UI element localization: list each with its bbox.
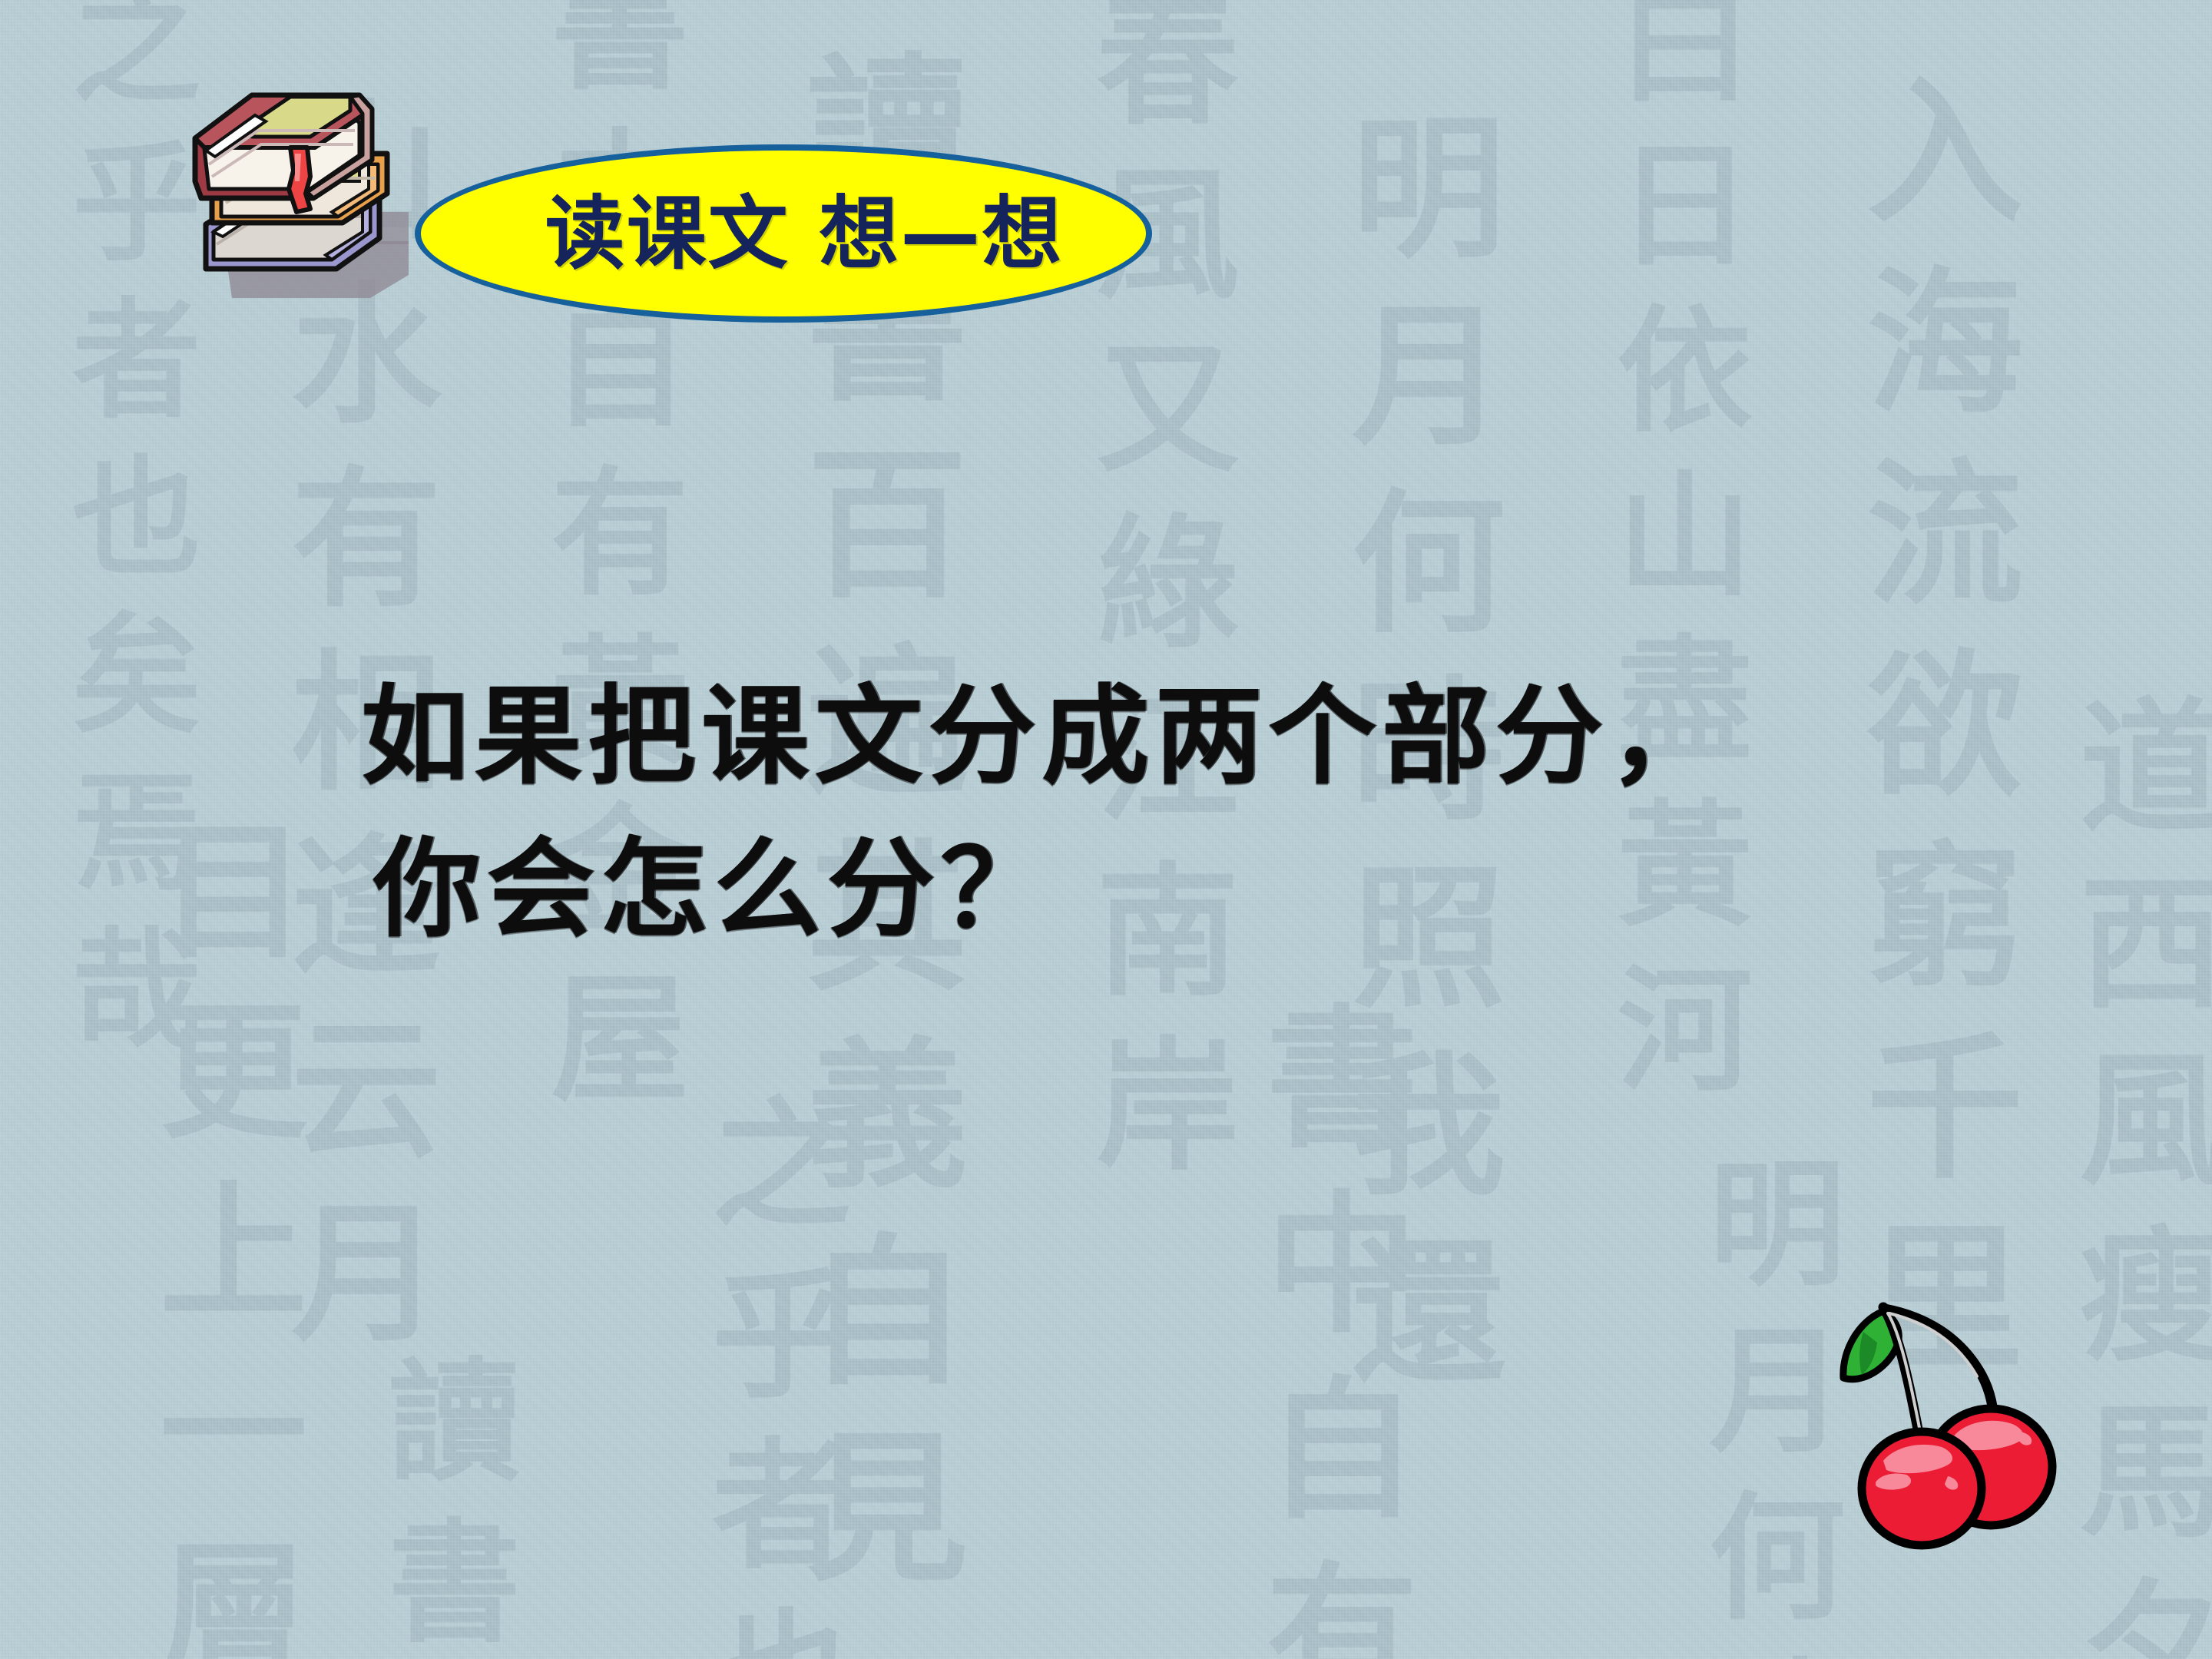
watermark-column: 書中自有黃金屋 — [1244, 998, 1415, 1659]
watermark-column: 目更上一層樓古 — [138, 814, 303, 1659]
question-line-1: 如果把课文分成两个部分， — [361, 661, 1897, 813]
watermark-column: 明月何時照我還 — [1690, 1152, 1843, 1659]
presentation-slide: 之乎者也矣焉哉 山水有相逢云月 書中自有黃金屋 讀書百遍其義自見 春風又綠江南岸… — [0, 0, 2212, 1659]
cherries-icon — [1833, 1295, 2057, 1532]
stacked-books-icon — [178, 74, 439, 313]
watermark-column: 之乎者也矣焉哉 — [691, 1091, 848, 1659]
main-question-text: 如果把课文分成两个部分， 你会怎么分？ — [361, 661, 1897, 966]
title-text: 读课文 想—想 — [415, 144, 1152, 323]
watermark-column: 之乎者也矣焉哉 — [54, 0, 198, 1079]
cherry-left — [1862, 1432, 1982, 1545]
bookmark-ribbon — [289, 147, 310, 212]
watermark-column: 讀書百遍其義自見 — [369, 1352, 517, 1659]
question-line-2: 你会怎么分？ — [361, 813, 1897, 966]
title-banner: 读课文 想—想 — [415, 144, 1152, 323]
watermark-column: 道西風瘦馬夕陽 — [2058, 691, 2212, 1659]
